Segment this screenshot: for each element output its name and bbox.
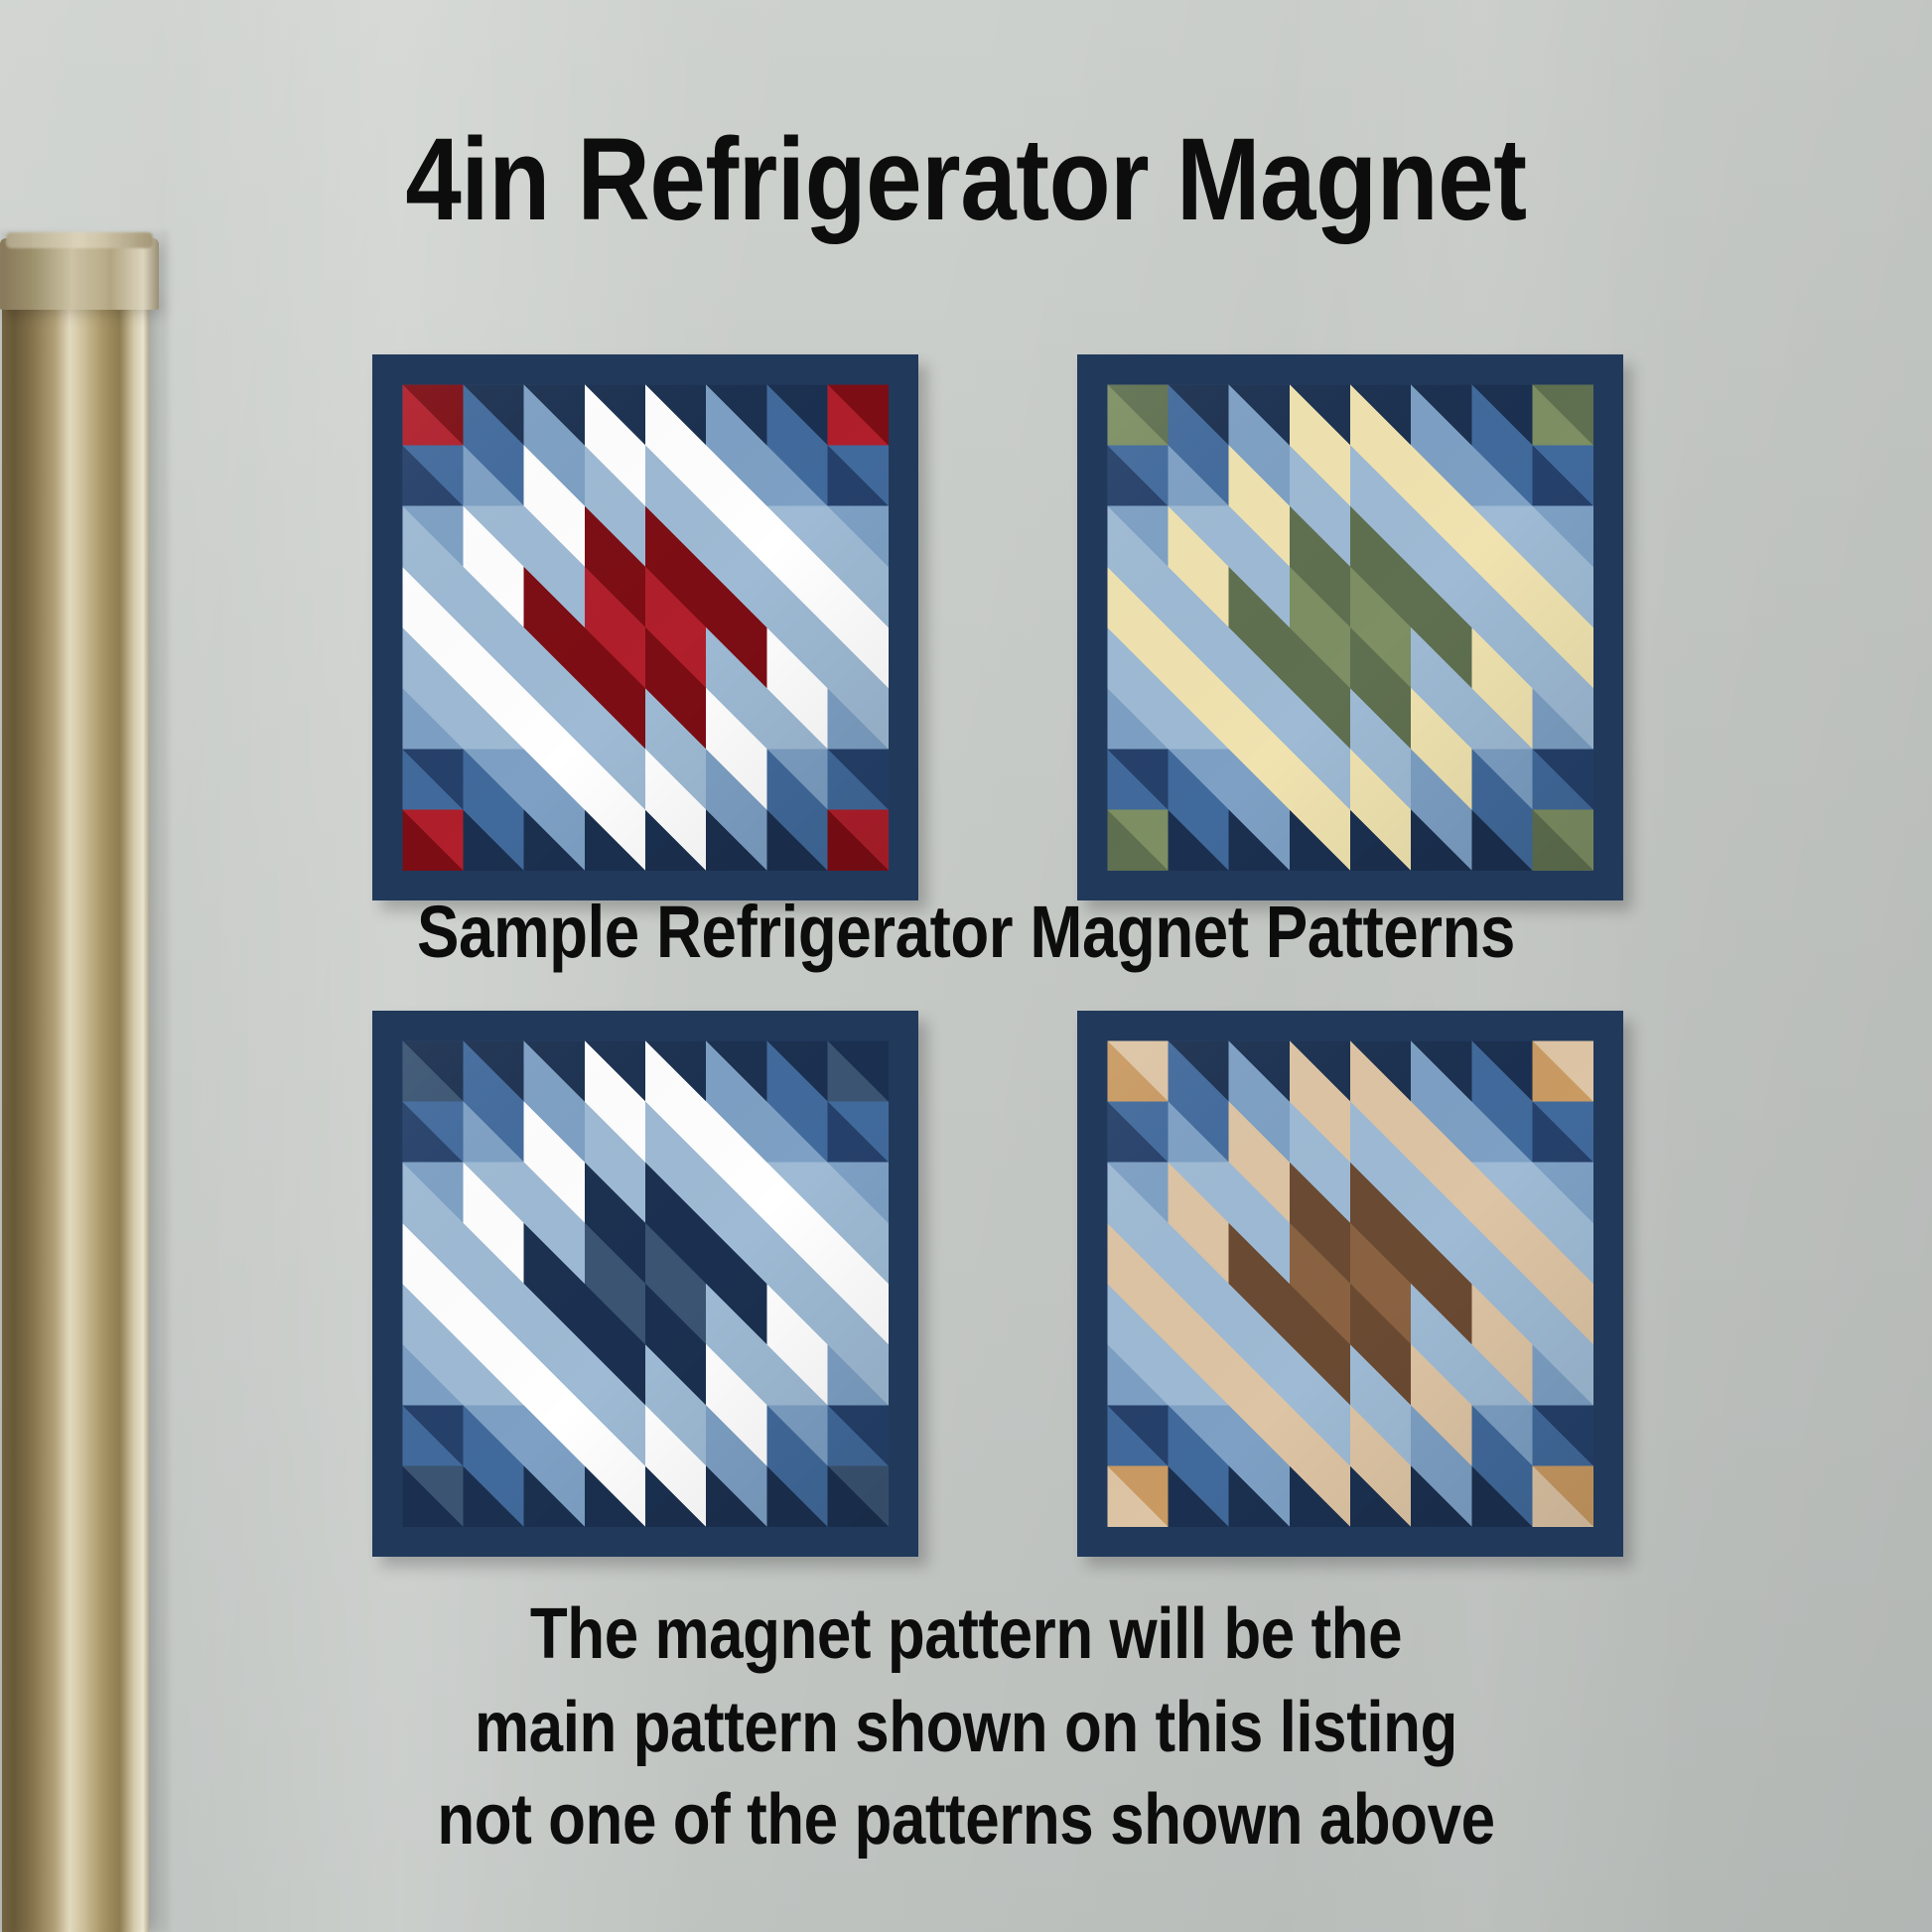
quilt-artwork (1077, 354, 1623, 900)
disclaimer-line-3: not one of the patterns shown above (135, 1774, 1797, 1867)
disclaimer-line-1: The magnet pattern will be the (135, 1588, 1797, 1682)
quilt-cream-green-blue[interactable] (1077, 354, 1623, 900)
quilt-artwork (372, 1011, 918, 1557)
quilt-artwork (372, 354, 918, 900)
page-title: 4in Refrigerator Magnet (135, 119, 1797, 242)
handle-cap (0, 238, 159, 310)
quilt-red-white-blue[interactable] (372, 354, 918, 900)
handle-cap-highlight (6, 232, 153, 248)
quilt-artwork (1077, 1011, 1623, 1557)
samples-caption: Sample Refrigerator Magnet Patterns (135, 894, 1797, 971)
quilt-blue-white[interactable] (372, 1011, 918, 1557)
disclaimer-text: The magnet pattern will be the main patt… (135, 1588, 1797, 1867)
disclaimer-line-2: main pattern shown on this listing (135, 1682, 1797, 1775)
handle-bar (2, 300, 149, 1932)
quilt-tan-brown-blue[interactable] (1077, 1011, 1623, 1557)
